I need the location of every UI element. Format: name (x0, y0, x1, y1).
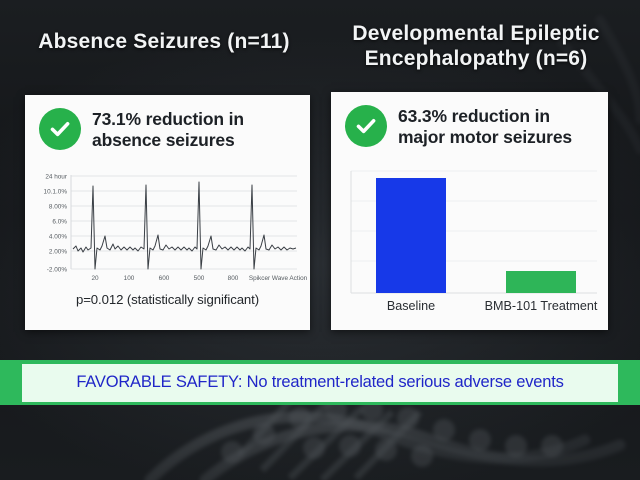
eeg-ytick-6: -2.00% (47, 267, 68, 274)
check-circle-icon (345, 105, 387, 147)
right-headline-text: 63.3% reduction in major motor seizures (398, 105, 596, 148)
bar-baseline (376, 178, 446, 293)
eeg-ytick-1: 10.1.0% (44, 189, 68, 196)
eeg-xtick-5: Spikcer Wave Action (249, 275, 308, 282)
bar-category-label-baseline: Baseline (387, 299, 435, 313)
panel-title-absence-seizures: Absence Seizures (n=11) (14, 30, 314, 55)
eeg-trace (73, 182, 296, 269)
left-headline-text: 73.1% reduction in absence seizures (92, 108, 298, 151)
eeg-ytick-3: 6.0% (52, 219, 67, 226)
safety-banner-inner: FAVORABLE SAFETY: No treatment-related s… (22, 364, 618, 402)
pvalue-note: p=0.012 (statistically significant) (25, 292, 310, 307)
left-headline-row: 73.1% reduction in absence seizures (25, 95, 310, 157)
eeg-ytick-5: 2.00% (49, 249, 67, 256)
bar-category-label-treatment: BMB-101 Treatment (485, 299, 598, 313)
right-headline-row: 63.3% reduction in major motor seizures (331, 92, 608, 154)
eeg-xtick-2: 600 (159, 275, 170, 282)
bar-bmb101-treatment (506, 271, 576, 293)
seizure-reduction-bar-chart: Baseline BMB-101 Treatment (331, 165, 608, 325)
eeg-xtick-1: 100 (124, 275, 135, 282)
eeg-ytick-0: 24 hour (45, 174, 68, 181)
eeg-xtick-3: 500 (194, 275, 205, 282)
favorable-safety-banner: FAVORABLE SAFETY: No treatment-related s… (0, 360, 640, 405)
safety-banner-text: FAVORABLE SAFETY: No treatment-related s… (76, 373, 563, 392)
check-circle-icon (39, 108, 81, 150)
absence-seizures-card: 73.1% reduction in absence seizures 24 h… (25, 95, 310, 330)
eeg-ytick-2: 8.00% (49, 204, 67, 211)
eeg-spike-wave-chart: 24 hour 10.1.0% 8.00% 6.0% 4.00% 2.00% -… (25, 169, 310, 287)
eeg-ytick-4: 4.00% (49, 234, 67, 241)
dee-card: 63.3% reduction in major motor seizures … (331, 92, 608, 330)
panel-title-dee: Developmental Epileptic Encephalopathy (… (330, 22, 622, 72)
eeg-xtick-0: 20 (91, 275, 99, 282)
eeg-xtick-4: 800 (228, 275, 239, 282)
